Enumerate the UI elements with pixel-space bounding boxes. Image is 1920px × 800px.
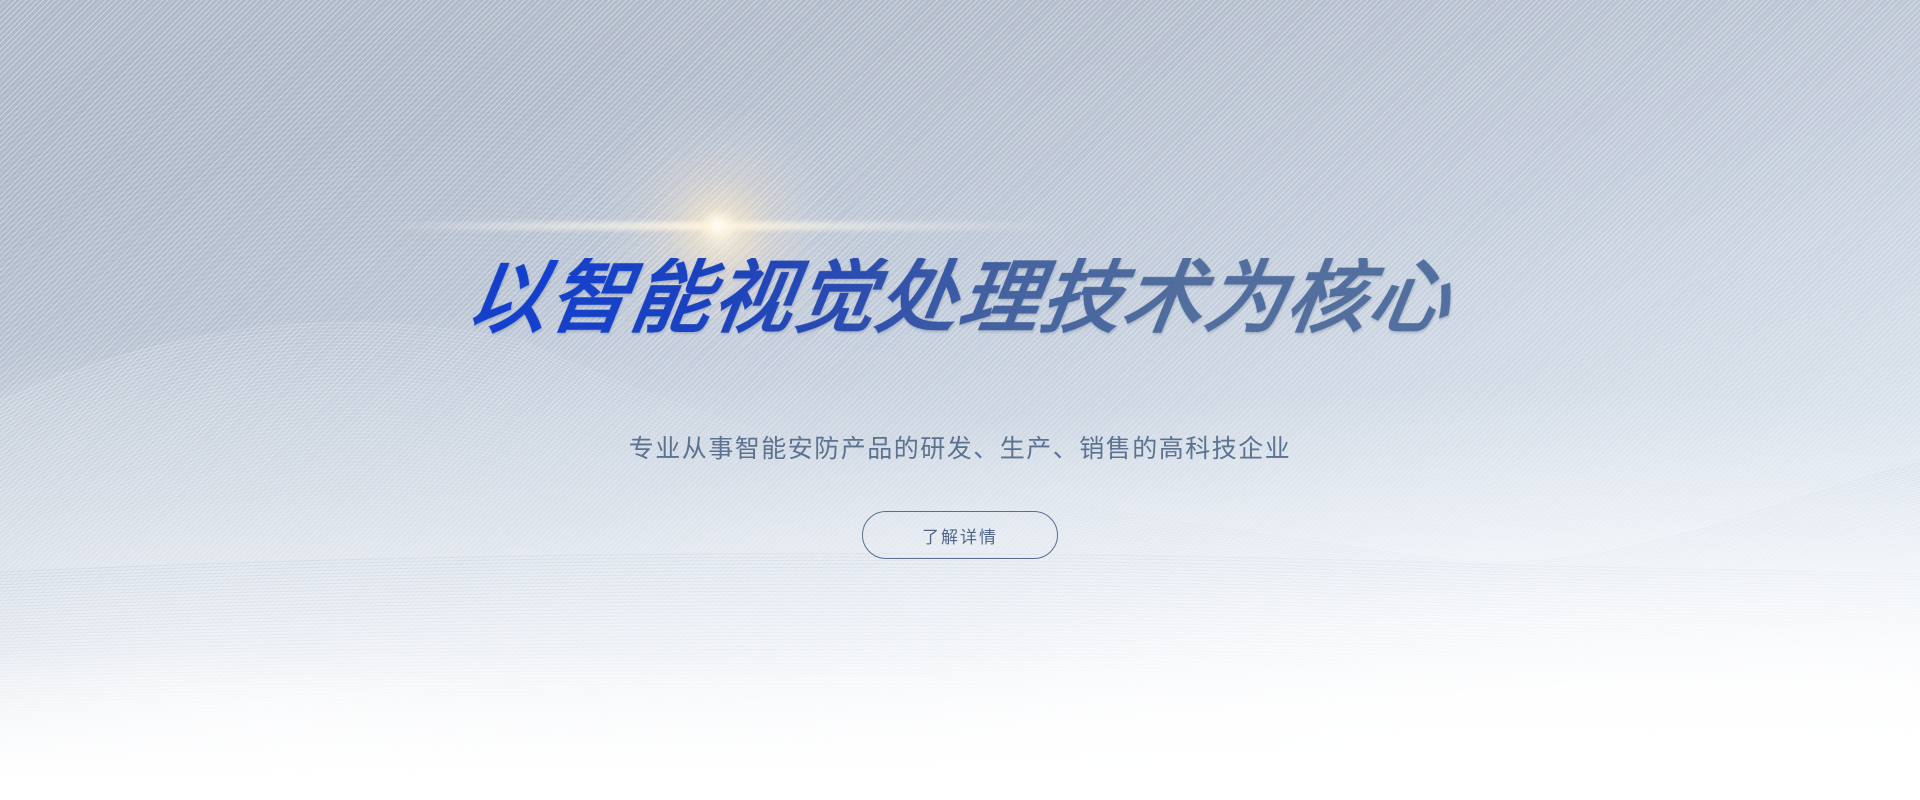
banner-content: 以智能视觉处理技术为核心 专业从事智能安防产品的研发、生产、销售的高科技企业 了…	[0, 0, 1920, 800]
hero-banner: 以智能视觉处理技术为核心 专业从事智能安防产品的研发、生产、销售的高科技企业 了…	[0, 0, 1920, 800]
banner-headline: 以智能视觉处理技术为核心	[0, 258, 1920, 338]
learn-more-button[interactable]: 了解详情	[862, 511, 1058, 559]
cta-container: 了解详情	[0, 511, 1920, 559]
banner-subtitle: 专业从事智能安防产品的研发、生产、销售的高科技企业	[0, 429, 1920, 465]
